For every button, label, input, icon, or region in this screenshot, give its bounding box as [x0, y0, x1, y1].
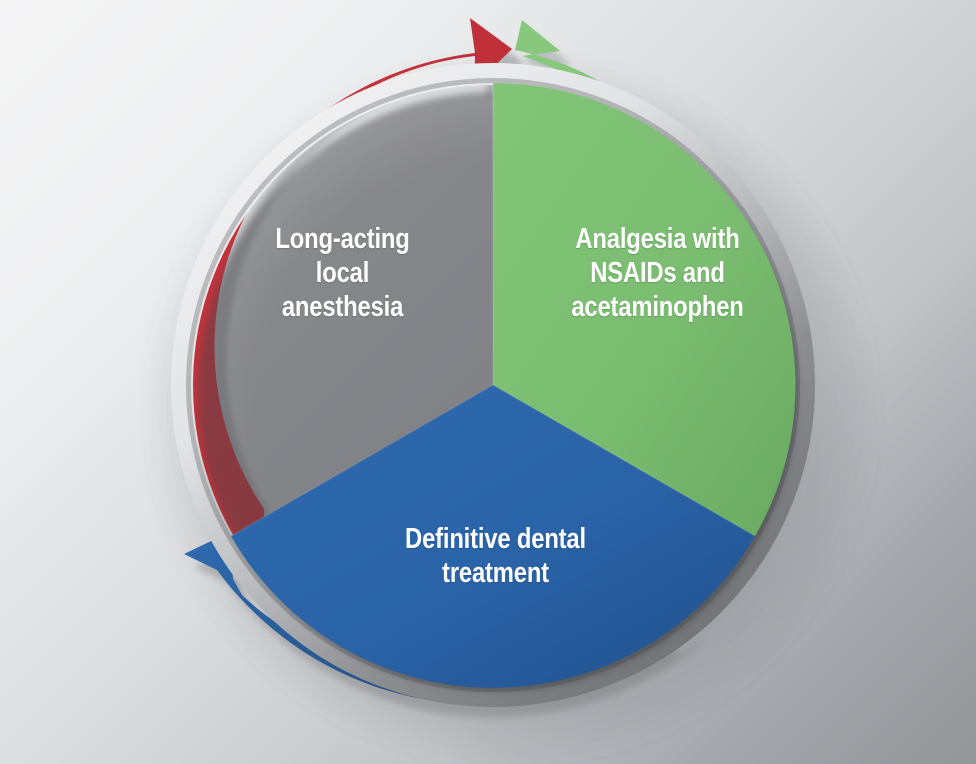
diagram-canvas: Long-acting local anesthesia Analgesia w… — [0, 0, 976, 764]
cycle-diagram-svg — [0, 0, 976, 764]
